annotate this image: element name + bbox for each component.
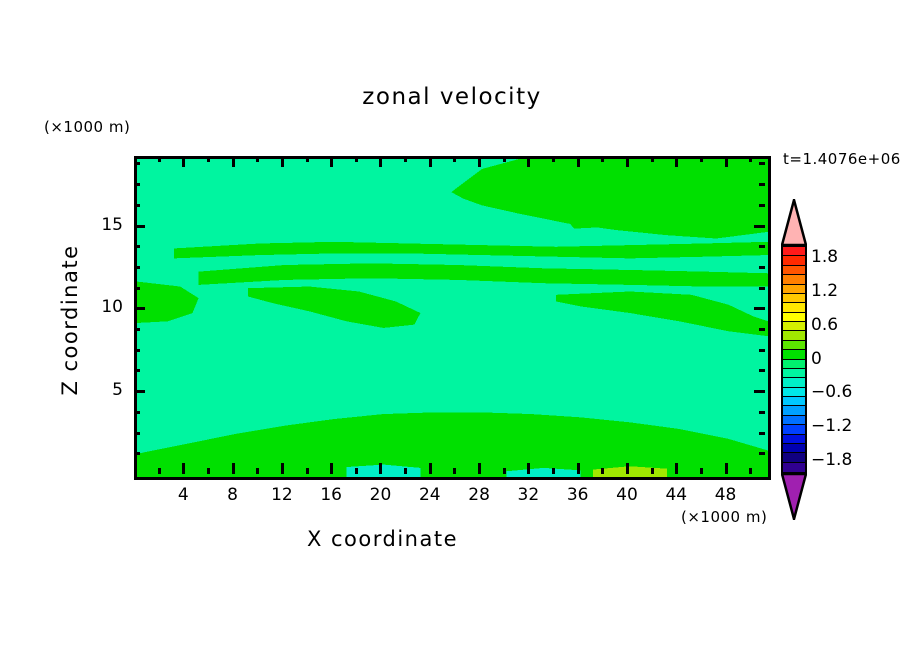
colorbar-band: [783, 322, 805, 331]
y-tick-minor-right: [759, 204, 765, 207]
y-tick-minor-right: [759, 162, 765, 165]
x-tick-major: [330, 463, 333, 474]
y-tick-minor: [134, 349, 140, 352]
x-tick-major-top: [429, 156, 432, 167]
y-tick-minor: [134, 183, 140, 186]
x-tick-minor: [503, 468, 506, 474]
colorbar-band: [783, 360, 805, 369]
x-tick-label: 48: [696, 485, 756, 505]
x-tick-major: [379, 463, 382, 474]
colorbar-band: [783, 331, 805, 340]
contour-plot-figure: zonal velocity (×1000 m) (×1000 m) t=1.4…: [0, 0, 904, 654]
contour-field: [137, 159, 768, 477]
y-tick-minor: [134, 204, 140, 207]
y-tick-minor-right: [759, 369, 765, 372]
y-tick-label: 10: [63, 297, 123, 317]
y-tick-minor: [134, 287, 140, 290]
y-tick-minor: [134, 432, 140, 435]
colorbar-band: [783, 369, 805, 378]
colorbar-band: [783, 341, 805, 350]
x-axis-unit-label: (×1000 m): [681, 508, 767, 526]
x-tick-major-top: [281, 156, 284, 167]
x-tick-major: [232, 463, 235, 474]
time-stamp-annotation: t=1.4076e+06: [783, 150, 901, 168]
x-tick-major: [478, 463, 481, 474]
colorbar-tick-label: −1.8: [811, 450, 852, 470]
x-tick-minor: [552, 468, 555, 474]
colorbar-band: [783, 256, 805, 265]
y-tick-minor-right: [759, 432, 765, 435]
colorbar-tick-label: −1.2: [811, 416, 852, 436]
y-tick-minor-right: [759, 349, 765, 352]
x-tick-minor: [355, 468, 358, 474]
colorbar-bands: [781, 245, 807, 474]
x-tick-major-top: [577, 156, 580, 167]
x-tick-minor: [306, 468, 309, 474]
colorbar-tick-label: 0: [811, 349, 822, 369]
x-tick-minor: [601, 468, 604, 474]
x-tick-minor: [749, 468, 752, 474]
page-title: zonal velocity: [0, 84, 904, 110]
colorbar: 1.81.20.60−0.6−1.2−1.8: [781, 199, 807, 520]
colorbar-band: [783, 247, 805, 256]
x-tick-minor: [700, 468, 703, 474]
x-tick-major: [281, 463, 284, 474]
y-tick-major: [134, 390, 145, 393]
y-tick-minor-right: [759, 183, 765, 186]
x-tick-major-top: [725, 156, 728, 167]
x-tick-major-top: [527, 156, 530, 167]
y-tick-label: 15: [63, 215, 123, 235]
x-tick-minor: [404, 468, 407, 474]
y-tick-minor: [134, 411, 140, 414]
y-tick-minor: [134, 162, 140, 165]
x-tick-minor: [453, 468, 456, 474]
colorbar-band: [783, 397, 805, 406]
x-tick-minor-top: [158, 156, 161, 162]
x-tick-major: [182, 463, 185, 474]
colorbar-band: [783, 294, 805, 303]
x-tick-minor-top: [453, 156, 456, 162]
x-tick-major-top: [379, 156, 382, 167]
y-tick-major: [134, 225, 145, 228]
colorbar-band: [783, 275, 805, 284]
x-tick-major-top: [182, 156, 185, 167]
y-tick-minor-right: [759, 245, 765, 248]
x-tick-major: [527, 463, 530, 474]
colorbar-tick-label: 0.6: [811, 315, 838, 335]
x-axis-title: X coordinate: [0, 527, 765, 551]
colorbar-band: [783, 350, 805, 359]
colorbar-band: [783, 388, 805, 397]
colorbar-band: [783, 266, 805, 275]
x-tick-minor-top: [503, 156, 506, 162]
colorbar-band: [783, 453, 805, 462]
y-tick-minor-right: [759, 411, 765, 414]
x-tick-minor-top: [552, 156, 555, 162]
colorbar-band: [783, 313, 805, 322]
colorbar-band: [783, 416, 805, 425]
x-tick-minor-top: [404, 156, 407, 162]
x-tick-major-top: [626, 156, 629, 167]
y-tick-minor: [134, 369, 140, 372]
y-tick-minor: [134, 328, 140, 331]
colorbar-band: [783, 463, 805, 472]
colorbar-band: [783, 406, 805, 415]
x-tick-major-top: [330, 156, 333, 167]
colorbar-cap-top-icon: [781, 199, 807, 246]
colorbar-tick-label: 1.8: [811, 247, 838, 267]
colorbar-band: [783, 378, 805, 387]
colorbar-band: [783, 285, 805, 294]
y-tick-major: [134, 307, 145, 310]
x-tick-minor-top: [749, 156, 752, 162]
y-tick-label: 5: [63, 380, 123, 400]
x-tick-minor-top: [700, 156, 703, 162]
colorbar-band: [783, 435, 805, 444]
x-tick-minor-top: [306, 156, 309, 162]
x-tick-minor-top: [207, 156, 210, 162]
x-tick-minor: [256, 468, 259, 474]
y-tick-major-right: [754, 307, 765, 310]
x-tick-major: [626, 463, 629, 474]
y-tick-minor-right: [759, 452, 765, 455]
plot-area: [134, 156, 771, 480]
y-tick-minor-right: [759, 287, 765, 290]
x-tick-major-top: [675, 156, 678, 167]
y-tick-minor: [134, 452, 140, 455]
x-tick-minor-top: [256, 156, 259, 162]
x-tick-major: [725, 463, 728, 474]
y-axis-unit-label: (×1000 m): [44, 118, 130, 136]
x-tick-minor: [207, 468, 210, 474]
x-tick-minor: [158, 468, 161, 474]
x-tick-minor-top: [601, 156, 604, 162]
x-tick-minor: [651, 468, 654, 474]
y-tick-minor-right: [759, 266, 765, 269]
x-tick-minor-top: [355, 156, 358, 162]
x-tick-minor-top: [651, 156, 654, 162]
x-tick-major-top: [478, 156, 481, 167]
y-tick-minor-right: [759, 328, 765, 331]
x-tick-major-top: [232, 156, 235, 167]
x-tick-major: [429, 463, 432, 474]
x-tick-major: [577, 463, 580, 474]
y-tick-major-right: [754, 225, 765, 228]
x-tick-major: [675, 463, 678, 474]
colorbar-band: [783, 425, 805, 434]
y-tick-minor: [134, 245, 140, 248]
y-tick-major-right: [754, 390, 765, 393]
colorbar-band: [783, 444, 805, 453]
y-tick-minor: [134, 266, 140, 269]
colorbar-band: [783, 303, 805, 312]
colorbar-cap-bottom-icon: [781, 473, 807, 520]
colorbar-tick-label: −0.6: [811, 382, 852, 402]
colorbar-tick-label: 1.2: [811, 281, 838, 301]
